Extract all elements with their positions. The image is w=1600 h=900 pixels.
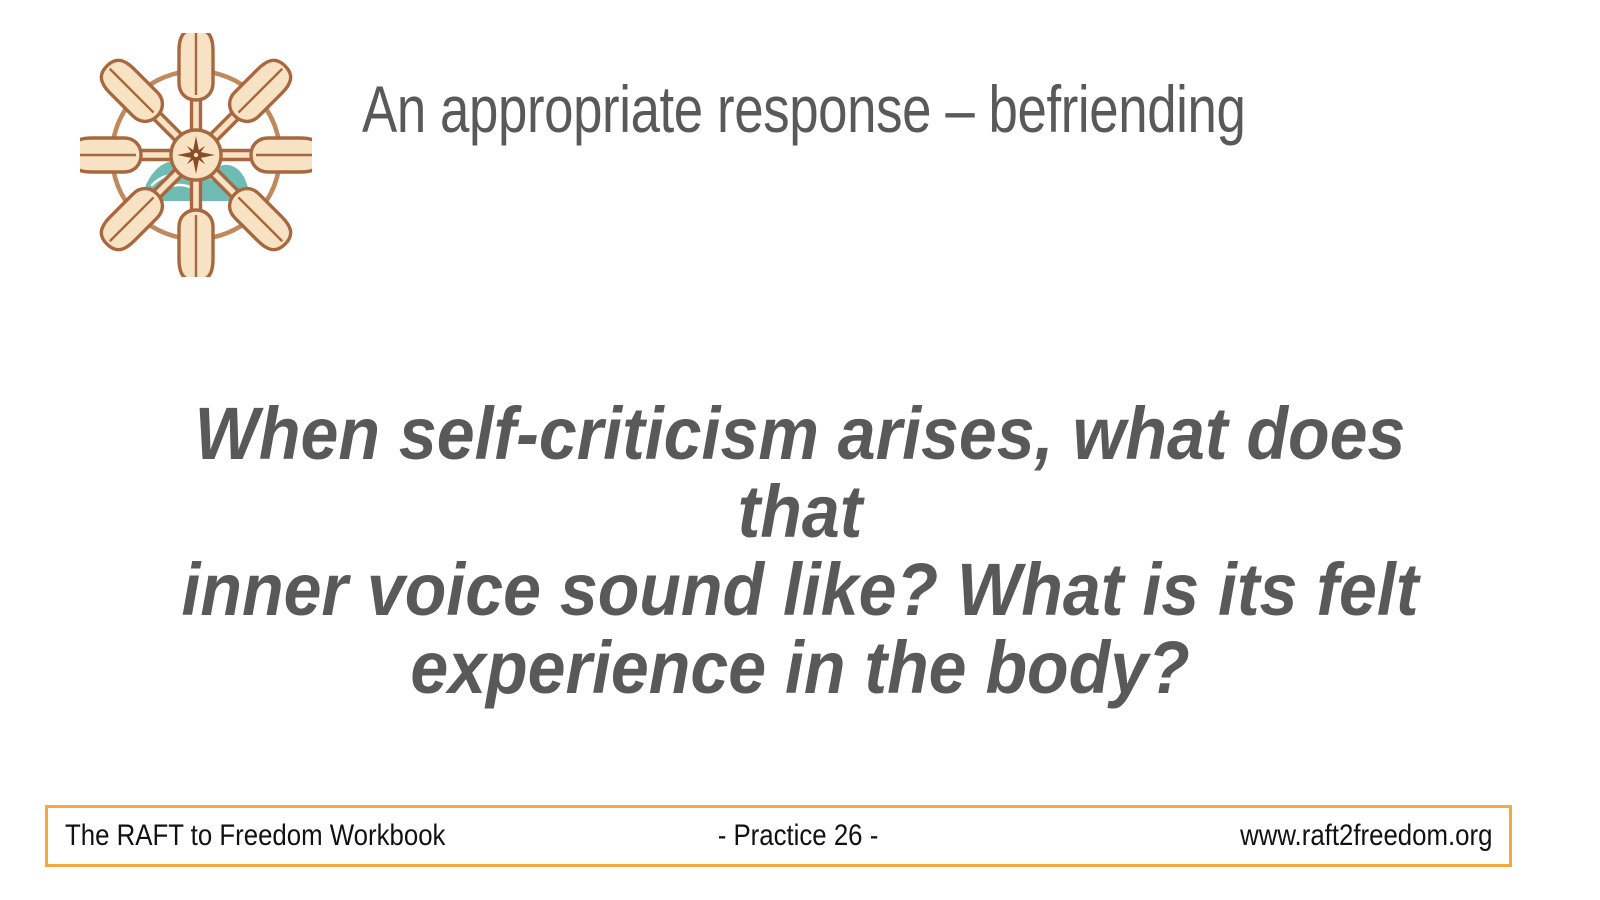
body-line-2: inner voice sound like? What is its felt — [138, 551, 1463, 629]
raft-to-freedom-wheel-logo — [80, 33, 312, 277]
body-line-1: When self-criticism arises, what does th… — [138, 395, 1463, 551]
footer-website-url: www.raft2freedom.org — [1240, 819, 1492, 853]
slide-title: An appropriate response – befriending — [362, 63, 1306, 155]
footer-practice-number: - Practice 26 - — [669, 819, 927, 853]
slide-canvas: An appropriate response – befriending Wh… — [0, 0, 1600, 900]
footer-bar: The RAFT to Freedom Workbook - Practice … — [45, 805, 1512, 867]
slide-body-text: When self-criticism arises, what does th… — [80, 395, 1520, 707]
footer-workbook-title: The RAFT to Freedom Workbook — [65, 819, 445, 853]
body-line-3: experience in the body? — [138, 629, 1463, 707]
wheel-logo-graphic — [80, 33, 312, 277]
